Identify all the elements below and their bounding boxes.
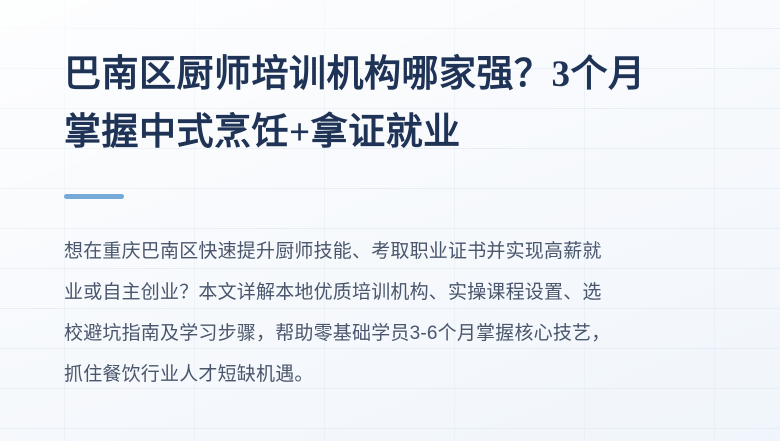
article-summary-line-4: 抓住餐饮行业人才短缺机遇。 bbox=[64, 354, 716, 395]
page-title: 巴南区厨师培训机构哪家强？3个月 掌握中式烹饪+拿证就业 bbox=[64, 0, 716, 162]
accent-rule bbox=[64, 194, 124, 199]
article-summary-line-3: 校避坑指南及学习步骤，帮助零基础学员3-6个月掌握核心技艺， bbox=[64, 313, 716, 354]
article-card: 巴南区厨师培训机构哪家强？3个月 掌握中式烹饪+拿证就业 想在重庆巴南区快速提升… bbox=[0, 0, 780, 441]
page-title-line-1: 巴南区厨师培训机构哪家强？3个月 bbox=[64, 46, 716, 104]
article-summary: 想在重庆巴南区快速提升厨师技能、考取职业证书并实现高薪就 业或自主创业？本文详解… bbox=[64, 231, 716, 395]
article-summary-line-2: 业或自主创业？本文详解本地优质培训机构、实操课程设置、选 bbox=[64, 272, 716, 313]
card-content: 巴南区厨师培训机构哪家强？3个月 掌握中式烹饪+拿证就业 想在重庆巴南区快速提升… bbox=[0, 0, 780, 395]
page-title-line-2: 掌握中式烹饪+拿证就业 bbox=[64, 104, 716, 162]
article-summary-line-1: 想在重庆巴南区快速提升厨师技能、考取职业证书并实现高薪就 bbox=[64, 231, 716, 272]
